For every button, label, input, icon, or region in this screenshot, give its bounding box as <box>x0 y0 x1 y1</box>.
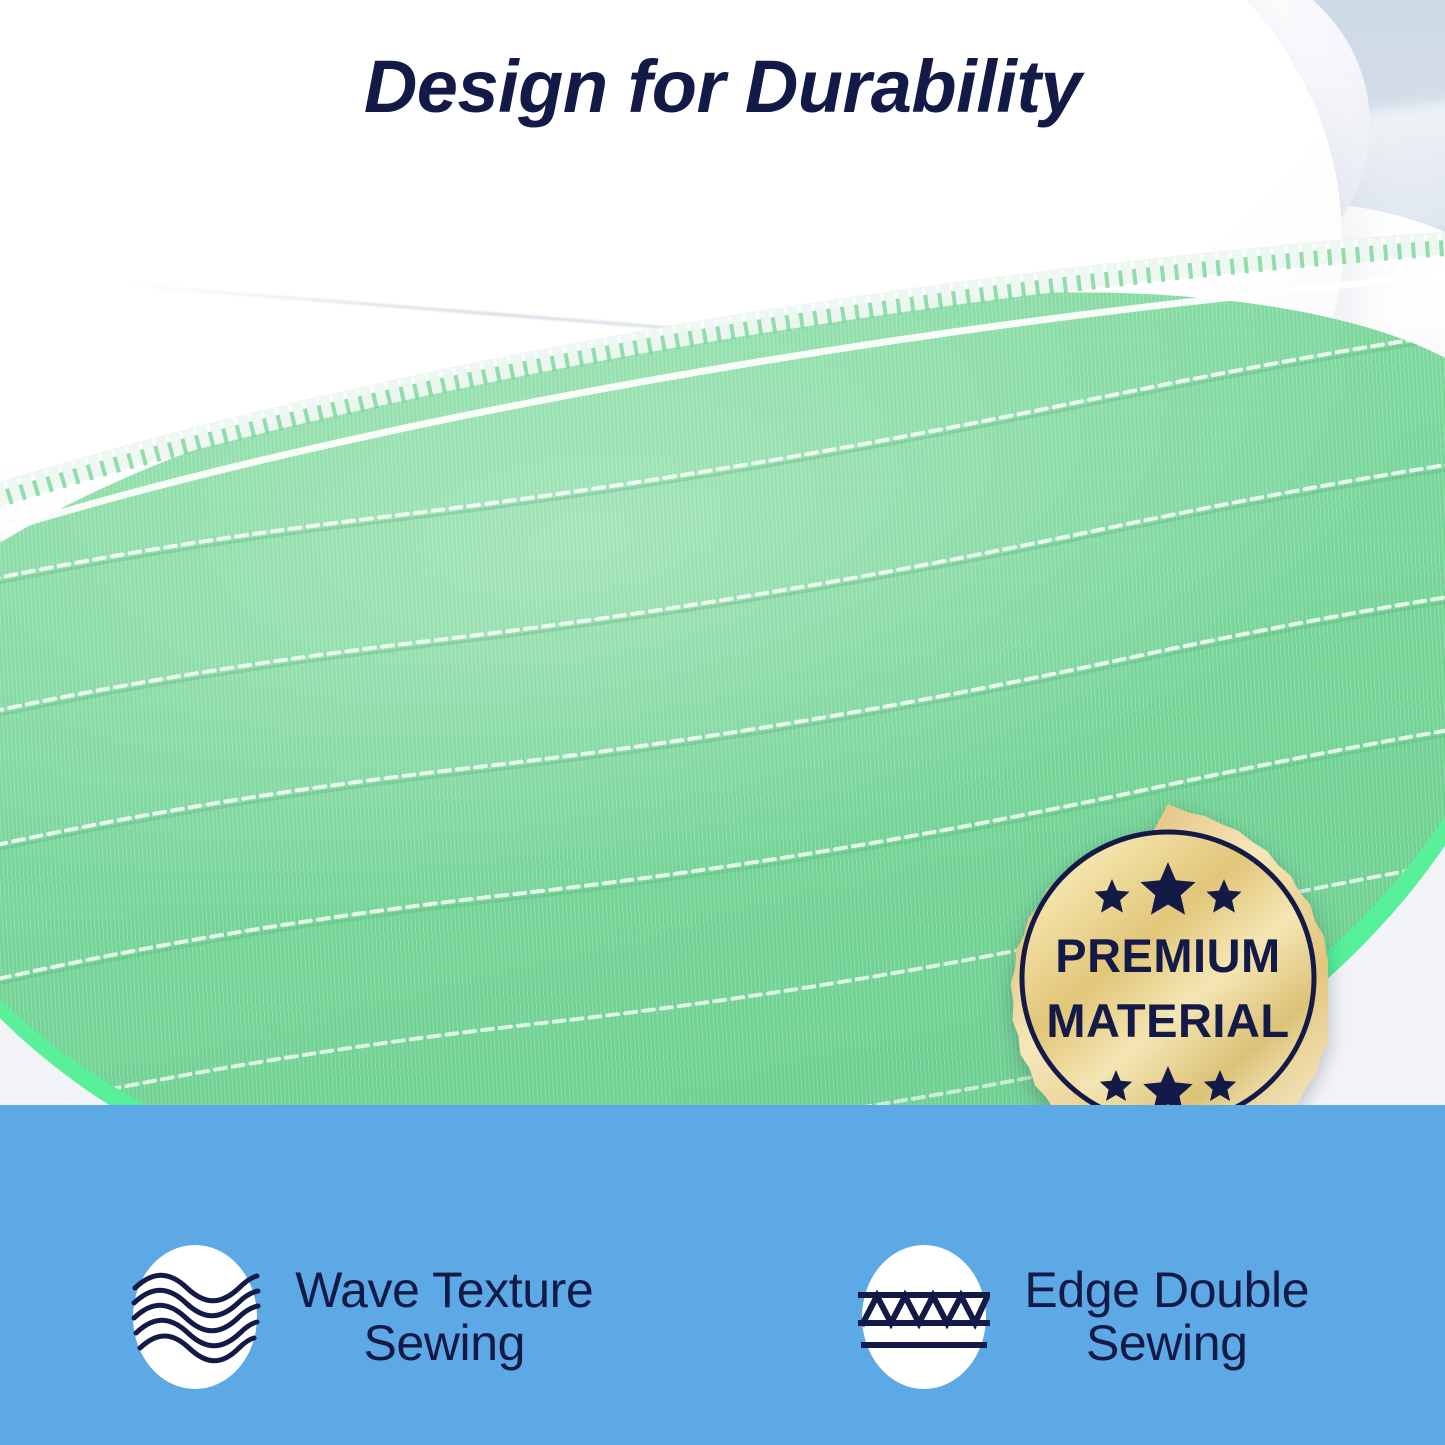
wave-texture-icon <box>129 1241 261 1393</box>
feature-label-line-2: Sewing <box>1024 1317 1309 1370</box>
page-title: Design for Durability <box>0 44 1445 129</box>
feature-label-line-1: Wave Texture <box>295 1264 593 1317</box>
feature-label: Edge Double Sewing <box>1024 1264 1309 1370</box>
feature-item: Edge Double Sewing <box>723 1241 1445 1393</box>
feature-label-line-2: Sewing <box>295 1317 593 1370</box>
badge-line-2: MATERIAL <box>1046 994 1289 1047</box>
feature-label: Wave Texture Sewing <box>295 1264 593 1370</box>
badge-line-1: PREMIUM <box>1055 929 1280 982</box>
premium-material-badge: PREMIUM MATERIAL <box>1008 800 1328 1156</box>
product-photo: PREMIUM MATERIAL Design for Durability <box>0 0 1445 1190</box>
zigzag-stitch-icon <box>858 1241 990 1393</box>
feature-list: Wave Texture Sewing Edge Double Se <box>0 1222 1445 1412</box>
feature-item: Wave Texture Sewing <box>0 1241 723 1393</box>
feature-label-line-1: Edge Double <box>1024 1264 1309 1317</box>
product-marketing-image: PREMIUM MATERIAL Design for Durability <box>0 0 1445 1445</box>
